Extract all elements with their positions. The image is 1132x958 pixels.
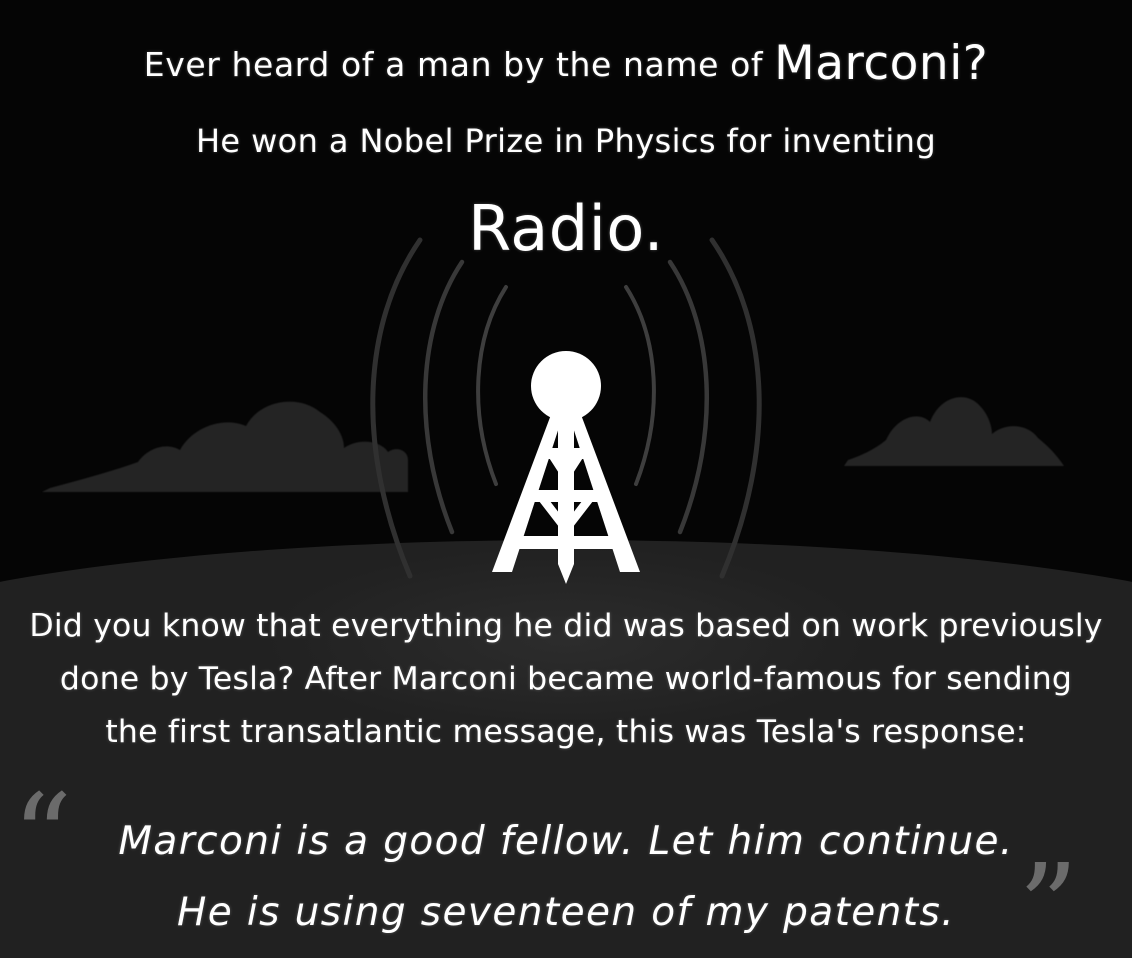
body-line: done by Tesla? After Marconi became worl…: [0, 653, 1132, 706]
headline-line-2: He won a Nobel Prize in Physics for inve…: [0, 122, 1132, 160]
body-line: the first transatlantic message, this wa…: [0, 706, 1132, 759]
headline-line-1-prefix: Ever heard of a man by the name of: [144, 45, 774, 84]
body-paragraph: Did you know that everything he did was …: [0, 600, 1132, 759]
body-line: Did you know that everything he did was …: [0, 600, 1132, 653]
headline-line-1: Ever heard of a man by the name of Marco…: [0, 36, 1132, 91]
pull-quote: Marconi is a good fellow. Let him contin…: [0, 806, 1132, 948]
quote-line: He is using seventeen of my patents.: [0, 877, 1132, 948]
cloud-left: [40, 388, 410, 498]
headline-emphasis-marconi: Marconi?: [774, 36, 988, 91]
infographic-poster: Ever heard of a man by the name of Marco…: [0, 0, 1132, 958]
quote-close-mark: ”: [1018, 848, 1078, 958]
headline-radio-title: Radio.: [0, 192, 1132, 265]
quote-line: Marconi is a good fellow. Let him contin…: [0, 806, 1132, 877]
radio-tower-icon: [466, 350, 666, 590]
cloud-right: [842, 388, 1092, 473]
